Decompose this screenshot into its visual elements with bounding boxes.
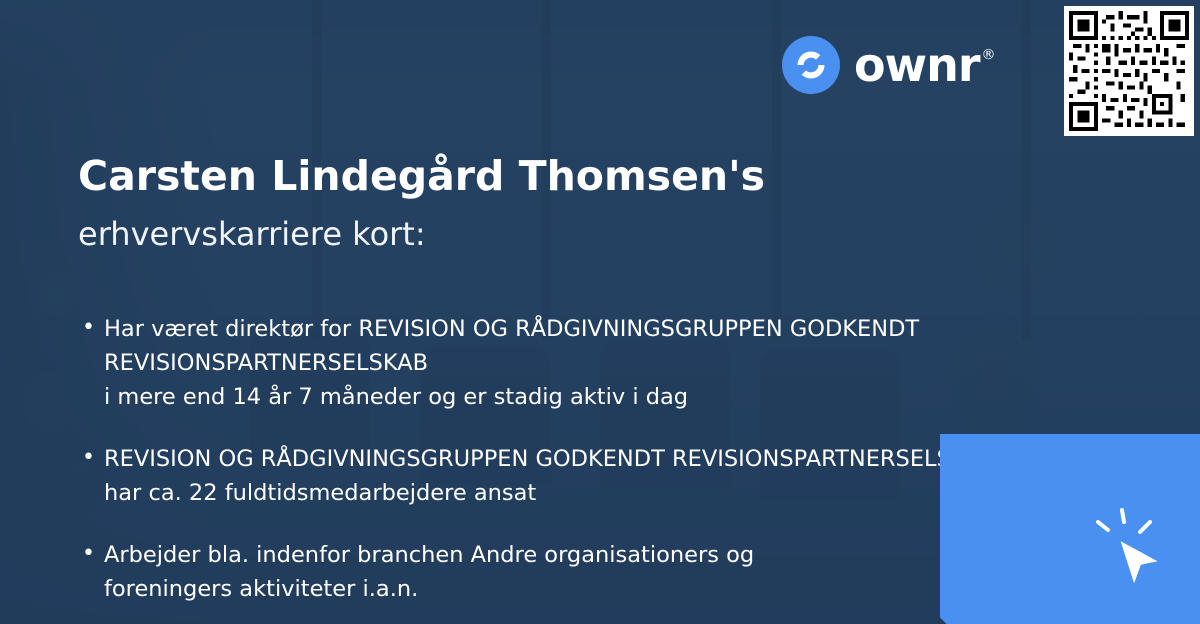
business-card-graphic: ownr® [0,0,1200,624]
ownr-circular-arrows-icon [782,36,840,94]
registered-mark: ® [982,47,995,63]
page-title: Carsten Lindegård Thomsen's [78,152,765,200]
list-item: Har været direktør for REVISION OG RÅDGI… [78,312,1198,414]
mouse-cursor-click-icon [1084,502,1176,598]
ownr-logo: ownr® [782,36,993,94]
ownr-wordmark: ownr® [854,42,993,88]
brand-name: ownr [854,38,980,92]
page-subtitle: erhvervskarriere kort: [78,215,426,253]
qr-code-icon[interactable] [1064,6,1194,136]
